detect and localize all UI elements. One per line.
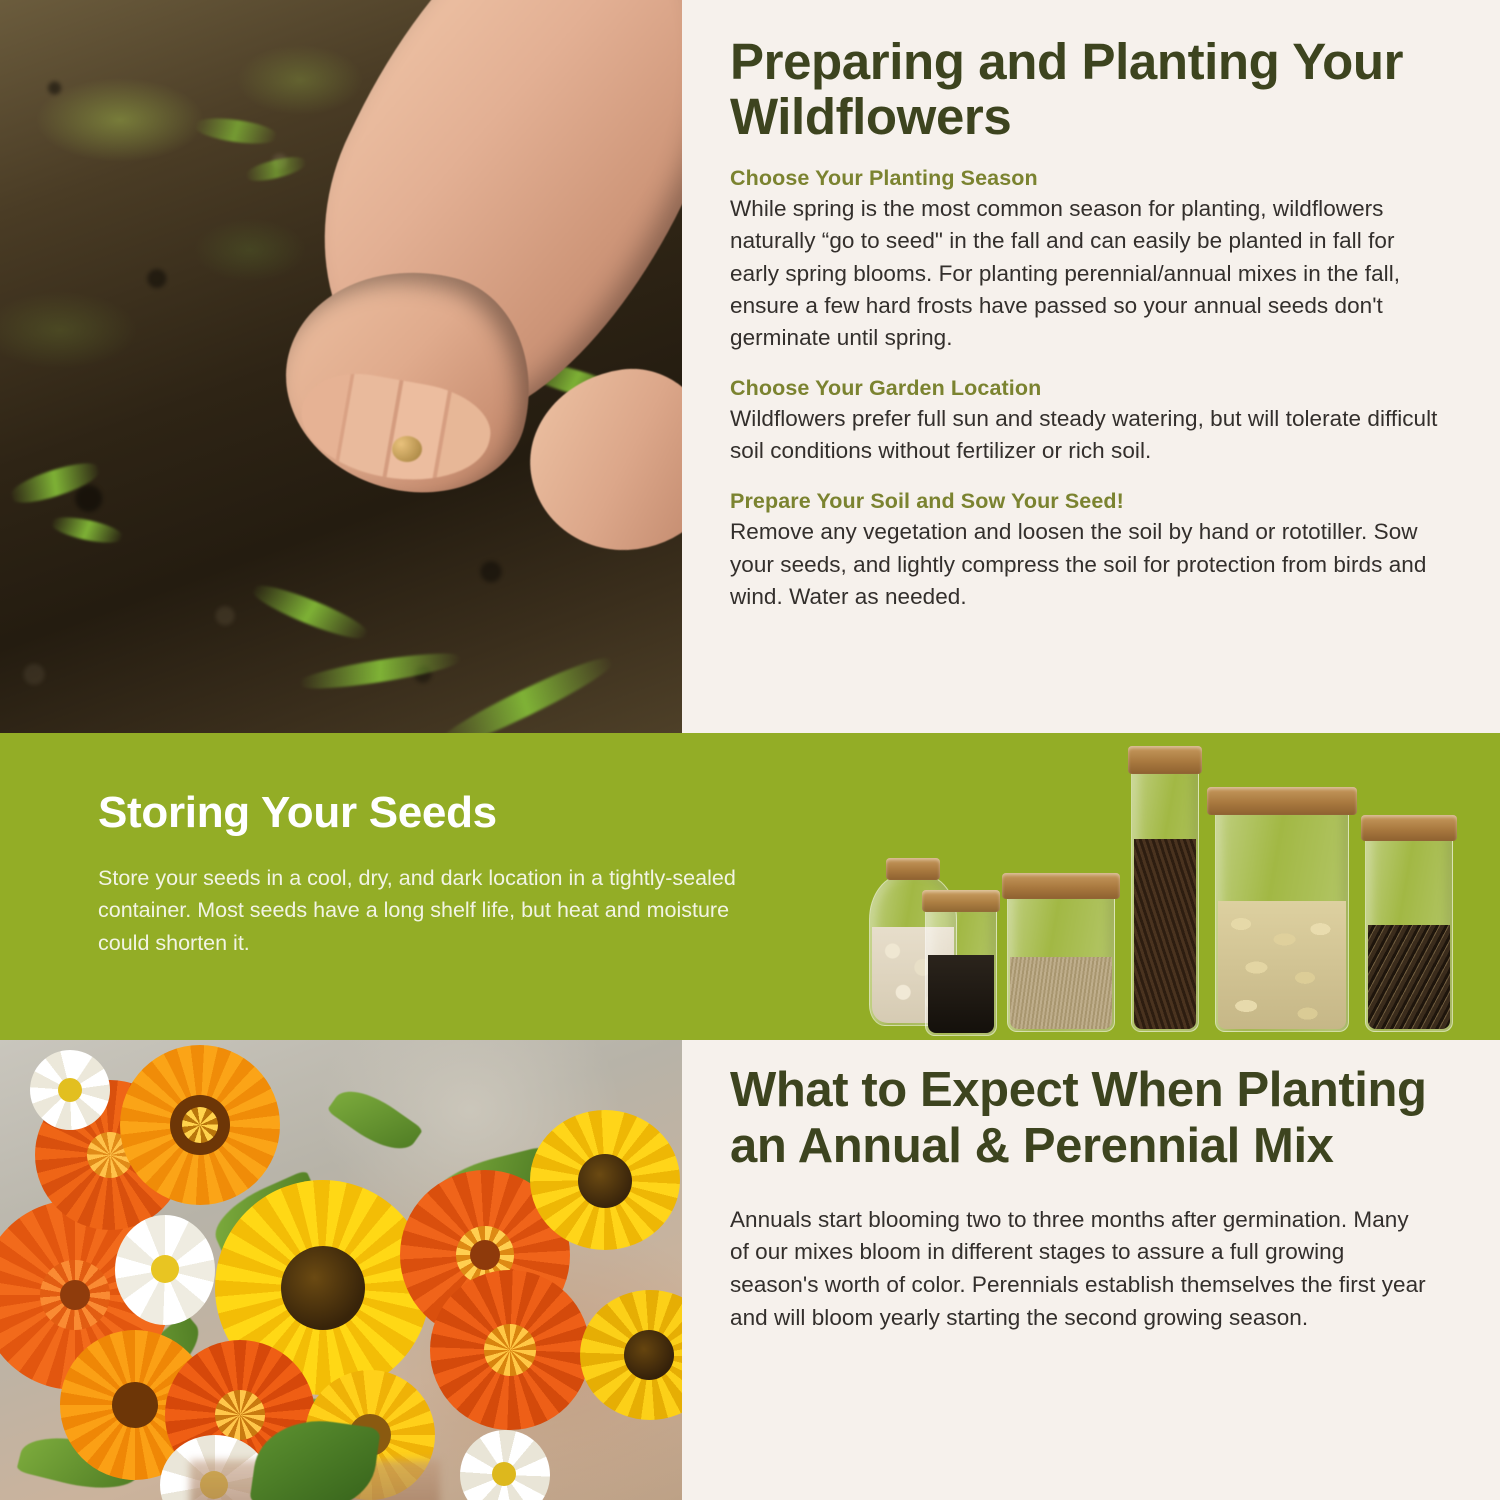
flower-sunflower xyxy=(530,1110,680,1250)
seed-jars-photo xyxy=(855,733,1435,1040)
flower-gold-zinnia xyxy=(120,1045,280,1205)
flower-disc xyxy=(578,1154,632,1208)
flower-center xyxy=(215,1390,265,1440)
wildflower-bouquet-photo xyxy=(0,1040,682,1500)
flower-orange-zinnia xyxy=(430,1270,590,1430)
text-block-planting-season: Choose Your Planting Season While spring… xyxy=(730,166,1442,354)
flower-disc xyxy=(112,1382,158,1428)
jar-fine-tan-seeds xyxy=(1007,892,1115,1032)
flower-center xyxy=(484,1324,536,1376)
flower-center xyxy=(58,1078,82,1102)
seed-fill-black xyxy=(928,955,994,1033)
subheading-planting-season: Choose Your Planting Season xyxy=(730,166,1442,191)
top-text-column: Preparing and Planting Your Wildflowers … xyxy=(730,34,1442,613)
jar-sunflower-seeds xyxy=(1365,834,1453,1032)
flower-center xyxy=(492,1462,516,1486)
flower-white-cosmos xyxy=(30,1050,110,1130)
flower-white-cosmos xyxy=(115,1215,215,1325)
band-title: Storing Your Seeds xyxy=(98,790,748,836)
storing-seeds-band: Storing Your Seeds Store your seeds in a… xyxy=(0,733,1500,1040)
text-block-garden-location: Choose Your Garden Location Wildflowers … xyxy=(730,376,1442,467)
cork-lid xyxy=(1207,787,1357,815)
infographic-page: Preparing and Planting Your Wildflowers … xyxy=(0,0,1500,1500)
jar-pumpkin-seeds xyxy=(1215,808,1349,1032)
page-title: Preparing and Planting Your Wildflowers xyxy=(730,34,1442,144)
flower-disc xyxy=(624,1330,674,1380)
jar-tall-dark-seeds xyxy=(1131,767,1199,1032)
subheading-prepare-soil: Prepare Your Soil and Sow Your Seed! xyxy=(730,489,1442,514)
seed-fill-dark-brown xyxy=(1134,839,1196,1029)
cork-lid xyxy=(922,890,1000,912)
seed-fill-pumpkin xyxy=(1218,901,1346,1029)
jar-black-seeds xyxy=(925,906,997,1036)
cork-lid xyxy=(886,858,940,880)
text-block-prepare-soil: Prepare Your Soil and Sow Your Seed! Rem… xyxy=(730,489,1442,613)
cork-lid xyxy=(1361,815,1457,841)
seed-fill-sunflower xyxy=(1368,925,1450,1029)
soil-planting-photo xyxy=(0,0,682,733)
body-planting-season: While spring is the most common season f… xyxy=(730,193,1442,354)
bottom-title: What to Expect When Planting an Annual &… xyxy=(730,1063,1430,1175)
cork-lid xyxy=(1002,873,1120,899)
body-garden-location: Wildflowers prefer full sun and steady w… xyxy=(730,403,1442,467)
flower-disc xyxy=(60,1280,90,1310)
falling-seeds xyxy=(392,436,422,462)
bottom-body: Annuals start blooming two to three mont… xyxy=(730,1204,1430,1335)
subheading-garden-location: Choose Your Garden Location xyxy=(730,376,1442,401)
flower-disc xyxy=(281,1246,365,1330)
band-body: Store your seeds in a cool, dry, and dar… xyxy=(98,862,748,959)
flower-center xyxy=(151,1255,179,1283)
band-text-column: Storing Your Seeds Store your seeds in a… xyxy=(98,790,748,959)
cork-lid xyxy=(1128,746,1202,774)
flower-center xyxy=(182,1107,218,1143)
body-prepare-soil: Remove any vegetation and loosen the soi… xyxy=(730,516,1442,613)
seed-fill-tan xyxy=(1010,957,1112,1029)
bottom-text-column: What to Expect When Planting an Annual &… xyxy=(730,1063,1430,1334)
flower-disc xyxy=(470,1240,500,1270)
